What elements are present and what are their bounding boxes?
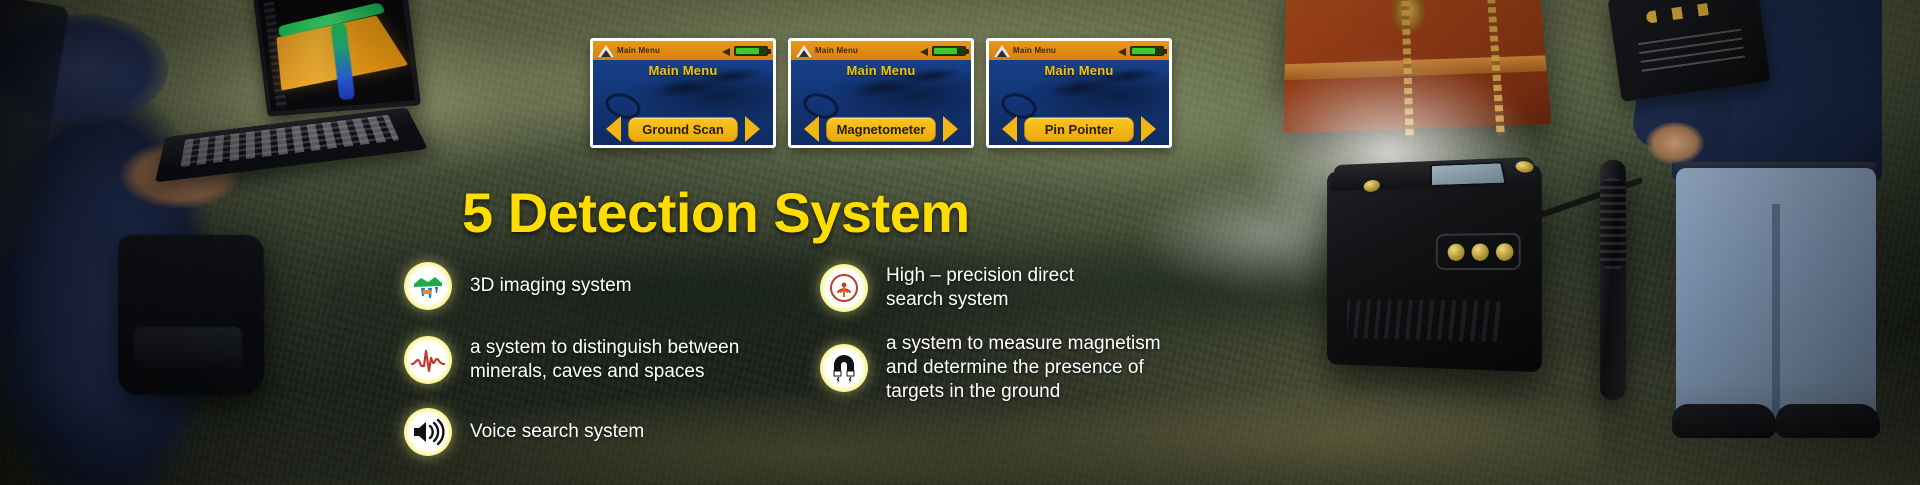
menu-card-pin-pointer[interactable]: Main Menu Main Menu Pin Pointer bbox=[986, 38, 1172, 148]
chest-band bbox=[1284, 55, 1546, 80]
chevron-right-icon[interactable] bbox=[1141, 116, 1156, 142]
card-mode-selector[interactable]: Magnetometer bbox=[791, 116, 971, 142]
card-title: Main Menu bbox=[593, 60, 773, 78]
speaker-wave-icon bbox=[404, 408, 452, 456]
scanner-lcd-display bbox=[1430, 162, 1507, 186]
feature-item-magnetometer: a system to measure magnetism and determ… bbox=[820, 332, 1250, 404]
menu-card-ground-scan[interactable]: Main Menu Main Menu Ground Scan bbox=[590, 38, 776, 148]
scanner-port bbox=[1472, 243, 1489, 260]
scanner-top-panel bbox=[1329, 157, 1540, 191]
feature-label: Voice search system bbox=[470, 420, 644, 444]
card-brand-label: Main Menu bbox=[815, 46, 858, 55]
scanner-brand-emboss bbox=[1347, 299, 1502, 342]
scanner-port bbox=[1448, 244, 1465, 261]
3d-terrain-icon bbox=[404, 262, 452, 310]
card-status-bar: Main Menu bbox=[791, 41, 971, 60]
feature-item-mineral-discrimination: a system to distinguish between minerals… bbox=[404, 336, 774, 384]
chevron-right-icon[interactable] bbox=[745, 116, 760, 142]
card-status-bar: Main Menu bbox=[989, 41, 1169, 60]
battery-icon bbox=[1130, 46, 1164, 56]
menu-card-magnetometer[interactable]: Main Menu Main Menu Magnetometer bbox=[788, 38, 974, 148]
chevron-left-icon[interactable] bbox=[606, 116, 621, 142]
promo-banner: Main Menu Main Menu Ground Scan bbox=[0, 0, 1920, 485]
card-title: Main Menu bbox=[989, 60, 1169, 78]
feature-label: High – precision direct search system bbox=[886, 264, 1074, 312]
operator-jeans bbox=[1676, 168, 1876, 418]
feature-label: 3D imaging system bbox=[470, 274, 632, 298]
feature-column-left: 3D imaging system a system to distinguis… bbox=[404, 262, 774, 456]
magnet-icon bbox=[820, 344, 868, 392]
scanner-port bbox=[1496, 243, 1514, 261]
operator-shoe bbox=[1776, 404, 1880, 438]
treasure-chest bbox=[1283, 0, 1551, 133]
chevron-right-icon[interactable] bbox=[943, 116, 958, 142]
bag-strap bbox=[0, 0, 69, 254]
chevron-left-icon[interactable] bbox=[1002, 116, 1017, 142]
equipment-bag bbox=[118, 235, 264, 395]
chevron-left-icon[interactable] bbox=[804, 116, 819, 142]
mountain-icon bbox=[598, 45, 614, 57]
operator-hand bbox=[1646, 122, 1704, 164]
laptop-keyboard bbox=[180, 115, 399, 167]
operator-shoe bbox=[1672, 404, 1776, 438]
waveform-icon bbox=[404, 336, 452, 384]
card-mode-label[interactable]: Magnetometer bbox=[826, 117, 937, 142]
feature-item-3d-imaging: 3D imaging system bbox=[404, 262, 774, 310]
laptop-3d-scan bbox=[141, 0, 422, 191]
speaker-icon bbox=[920, 46, 929, 55]
card-mode-selector[interactable]: Ground Scan bbox=[593, 116, 773, 142]
feature-column-right: High – precision direct search system a … bbox=[820, 262, 1250, 456]
operator-right-figure bbox=[1580, 0, 1920, 485]
card-mode-label[interactable]: Pin Pointer bbox=[1024, 117, 1134, 142]
device-menu-screenshots: Main Menu Main Menu Ground Scan bbox=[590, 38, 1172, 148]
laptop-screen bbox=[253, 0, 421, 117]
card-body: Main Menu Magnetometer bbox=[791, 60, 971, 148]
speaker-icon bbox=[722, 46, 731, 55]
battery-icon bbox=[932, 46, 966, 56]
mountain-icon bbox=[796, 45, 812, 57]
antenna-signal-icon bbox=[820, 264, 868, 312]
card-brand-label: Main Menu bbox=[617, 46, 660, 55]
mountain-icon bbox=[994, 45, 1010, 57]
page-title: 5 Detection System bbox=[462, 180, 970, 245]
control-unit-knobs bbox=[1646, 1, 1725, 24]
feature-list: 3D imaging system a system to distinguis… bbox=[404, 262, 1324, 456]
control-unit-screen bbox=[1638, 29, 1746, 77]
feature-item-voice-search: Voice search system bbox=[404, 408, 774, 456]
card-status-bar: Main Menu bbox=[593, 41, 773, 60]
ground-scanner-unit bbox=[1327, 164, 1542, 373]
card-mode-label[interactable]: Ground Scan bbox=[628, 117, 738, 142]
card-mode-selector[interactable]: Pin Pointer bbox=[989, 116, 1169, 142]
card-body: Main Menu Ground Scan bbox=[593, 60, 773, 148]
feature-label: a system to measure magnetism and determ… bbox=[886, 332, 1161, 404]
feature-item-direct-search: High – precision direct search system bbox=[820, 264, 1250, 312]
speaker-icon bbox=[1118, 46, 1127, 55]
battery-icon bbox=[734, 46, 768, 56]
card-body: Main Menu Pin Pointer bbox=[989, 60, 1169, 148]
scanner-knob bbox=[1514, 161, 1535, 173]
scanner-knob bbox=[1363, 180, 1381, 192]
card-brand-label: Main Menu bbox=[1013, 46, 1056, 55]
card-title: Main Menu bbox=[791, 60, 971, 78]
feature-label: a system to distinguish between minerals… bbox=[470, 336, 739, 384]
